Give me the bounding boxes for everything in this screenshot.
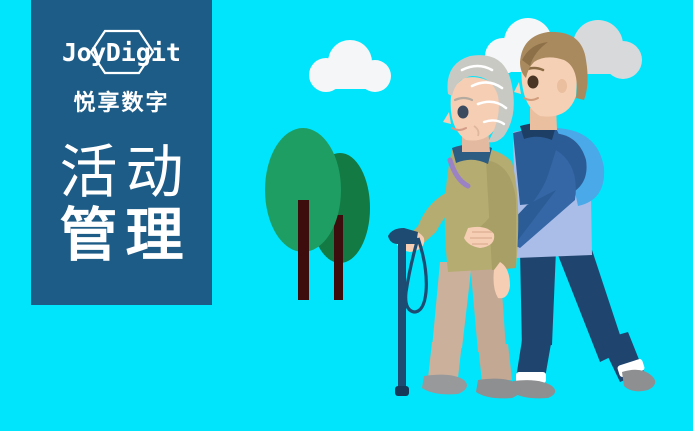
brand-panel: JoyDigit 悦享数字 活动 管理: [31, 0, 212, 305]
woman-face: [451, 77, 500, 140]
wordmark-part-2: Digit: [106, 38, 181, 67]
brand-wordmark: JoyDigit: [62, 40, 181, 65]
brand-sub-name: 悦享数字: [73, 85, 169, 117]
headline-line-1: 活动: [51, 141, 191, 204]
headline-block: 活动 管理: [31, 141, 212, 266]
logo-mark: JoyDigit: [47, 28, 197, 76]
logo-block: JoyDigit 悦享数字: [31, 28, 212, 117]
cane-tip: [395, 386, 409, 396]
cane-shaft: [398, 240, 406, 392]
woman-eye: [458, 106, 469, 119]
man-eye: [528, 76, 539, 89]
wordmark-part-1: Joy: [62, 38, 106, 67]
tree-front-trunk: [298, 200, 309, 300]
tree-back-trunk: [334, 215, 343, 300]
man-front-leg: [520, 250, 556, 350]
woman-front-leg-lower: [428, 342, 462, 378]
headline-line-2: 管理: [51, 204, 191, 267]
man-ear: [557, 79, 567, 93]
poster-canvas: JoyDigit 悦享数字 活动 管理: [0, 0, 693, 431]
woman-back-leg-lower: [478, 344, 512, 382]
